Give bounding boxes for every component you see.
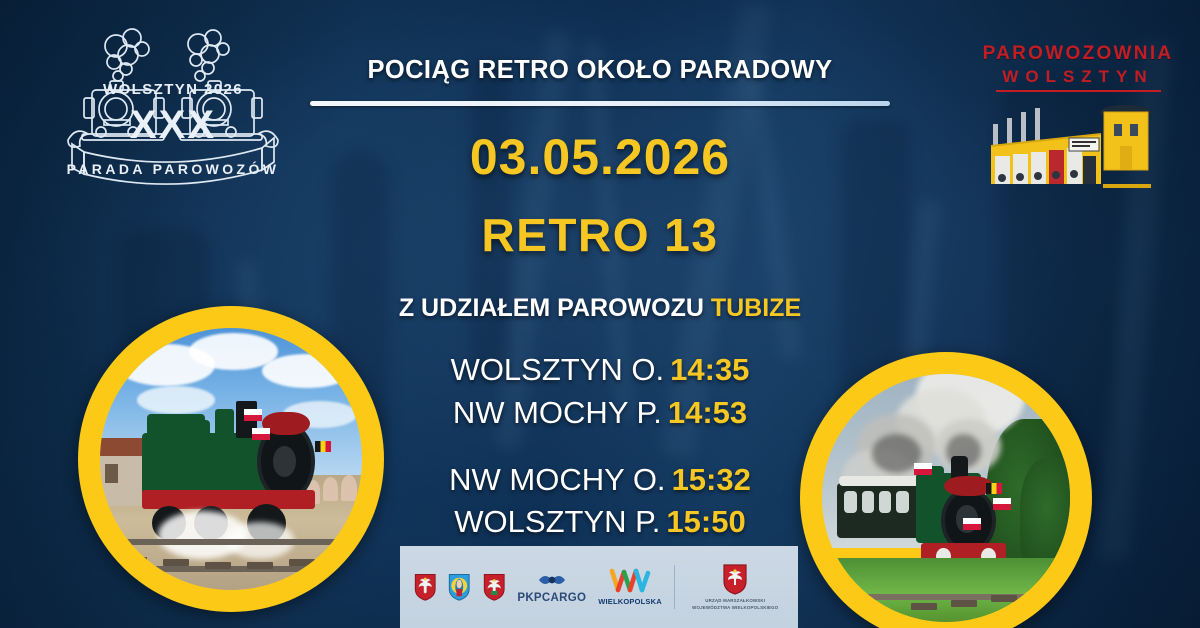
photo-right-image (822, 374, 1070, 622)
crest-wolsztyn-town (483, 566, 505, 608)
parada-parowozow-logo: WOLSZTYN 2026 XXX PARADA PAROWOZÓW (58, 22, 288, 192)
station-name: WOLSZTYN P. (454, 504, 660, 539)
sponsor-separator (674, 565, 675, 609)
pkp-cargo-icon (537, 571, 567, 589)
photo-steam-train-with-smoke (800, 352, 1092, 628)
pkp-cargo-logo: PKPCARGO (517, 571, 586, 604)
parowozownia-line1: PAROWOZOWNIA (983, 44, 1174, 63)
crest-wolsztyn-county (448, 566, 470, 608)
poster-root: WOLSZTYN 2026 XXX PARADA PAROWOZÓW PAROW… (0, 0, 1200, 628)
wielkopolska-logo: WIELKOPOLSKA (598, 568, 662, 606)
locomotive-prefix: Z UDZIAŁEM PAROWOZU (399, 294, 704, 322)
sponsor-bar: PKPCARGO WIELKOPOLSKA (400, 546, 798, 628)
locomotive-name: TUBIZE (711, 294, 801, 322)
station-time: 14:35 (670, 352, 749, 387)
photo-left-image (100, 328, 362, 590)
pkp-cargo-label: PKPCARGO (517, 592, 586, 604)
roundhouse-illustration (983, 98, 1173, 190)
station-time: 15:32 (672, 462, 751, 497)
station-time: 14:53 (668, 395, 747, 430)
station-name: NW MOCHY O. (449, 462, 665, 497)
station-name: WOLSZTYN O. (451, 352, 665, 387)
parowozownia-line2: WOLSZTYN (1002, 68, 1153, 85)
station-time: 15:50 (666, 504, 745, 539)
parowozownia-wolsztyn-logo: PAROWOZOWNIA WOLSZTYN (978, 44, 1178, 194)
parowozownia-rule (996, 90, 1161, 92)
schedule-row: NW MOCHY P.14:53 (300, 392, 900, 435)
locomotive-line: Z UDZIAŁEM PAROWOZU TUBIZE (300, 294, 900, 323)
wielkopolska-label: WIELKOPOLSKA (598, 597, 662, 606)
schedule-group-outbound: WOLSZTYN O.14:35 NW MOCHY P.14:53 (300, 349, 900, 435)
logo-left-numeral: XXX (130, 103, 216, 147)
schedule-row: WOLSZTYN O.14:35 (300, 349, 900, 392)
logo-left-year: WOLSZTYN 2026 (103, 81, 243, 98)
wielkopolska-icon (609, 568, 651, 594)
logo-left-banner: PARADA PAROWOZÓW (67, 160, 280, 177)
event-date: 03.05.2026 (300, 128, 900, 186)
crest-wielkopolska (414, 566, 436, 608)
page-title: POCIĄG RETRO OKOŁO PARADOWY (300, 56, 900, 85)
photo-green-steam-locomotive-station (78, 306, 384, 612)
urzad-label: URZĄD MARSZAŁKOWSKI WOJEWÓDZTWA WIELKOPO… (687, 598, 784, 611)
urzad-marszalkowski-logo: URZĄD MARSZAŁKOWSKI WOJEWÓDZTWA WIELKOPO… (687, 563, 784, 611)
title-divider (310, 101, 890, 106)
urzad-crest-icon (722, 563, 748, 595)
station-name: NW MOCHY P. (453, 395, 662, 430)
train-number: RETRO 13 (300, 208, 900, 262)
